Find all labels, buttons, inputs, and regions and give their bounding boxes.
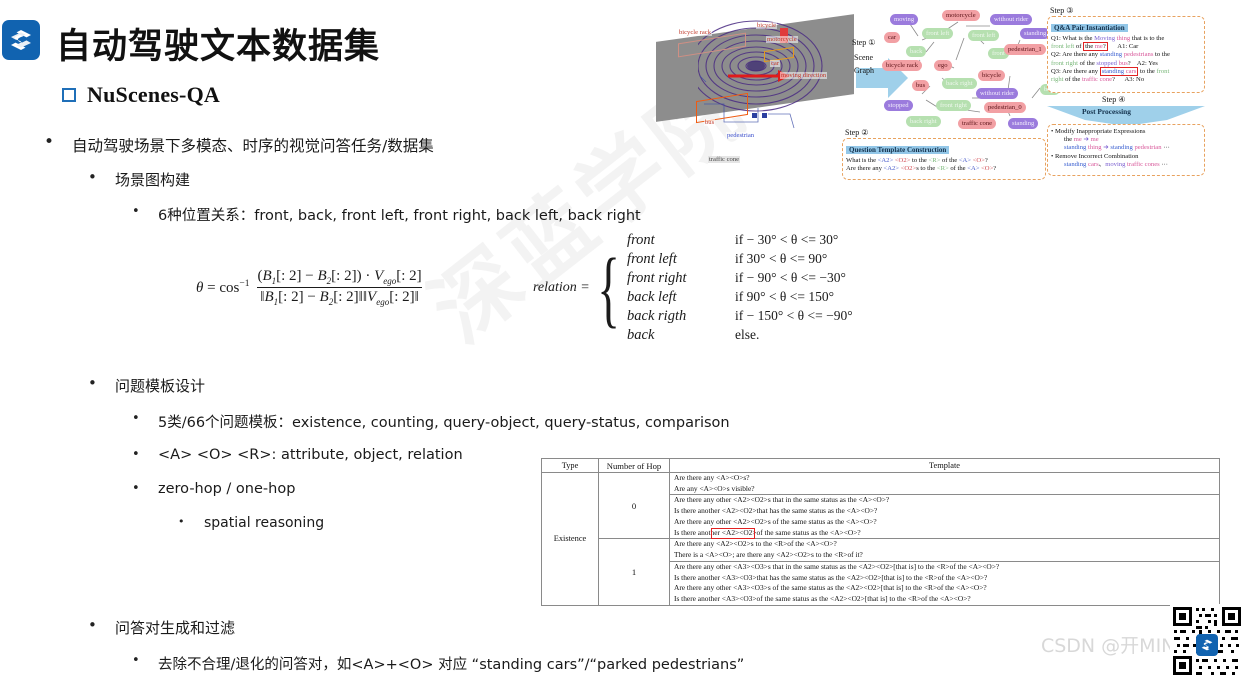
graph-node-ego: ego xyxy=(934,60,952,71)
bullet-text: zero-hop / one-hop xyxy=(158,481,295,497)
lidar-scene-panel: bicycle rack bicycle motorcycle car movi… xyxy=(652,4,862,182)
figure-label-car: car xyxy=(770,60,780,67)
bullet-dot-icon: • xyxy=(132,447,158,463)
template-group: Are there any <A><O>s?Are any <A><O>s vi… xyxy=(670,473,1219,495)
formula-theta-fraction: (B1[: 2] − B2[: 2]) · Vego[: 2] ‖B1[: 2]… xyxy=(254,268,424,308)
relation-case-value-4: back rigth xyxy=(627,308,735,325)
column-header-template: Template xyxy=(670,459,1220,473)
table-row: 1Are there any <A2><O2>s to the <R>of th… xyxy=(542,539,1220,605)
formula-relation-lhs: relation = xyxy=(533,280,594,296)
graph-node-without-rider: without rider xyxy=(990,14,1032,25)
relation-case-condition-5: else. xyxy=(735,327,853,344)
page-title: 自动驾驶文本数据集 xyxy=(56,18,380,69)
bullet-text: <A> <O> <R>: attribute, object, relation xyxy=(158,447,463,463)
bullet-text: spatial reasoning xyxy=(204,515,324,531)
template-group: Are there any other <A3><O3>s that in th… xyxy=(670,562,1219,605)
bullet-level2-scenegraph: • 场景图构建 xyxy=(88,169,190,190)
step3-qa-1b: front left of the me? A1: Car xyxy=(1048,43,1204,51)
pipeline-figure: bicycle rack bicycle motorcycle car movi… xyxy=(652,0,1246,186)
step1-label: Step ① xyxy=(852,38,875,47)
figure-label-pedestrian: pedestrian xyxy=(726,132,755,139)
step1-name-line1: Scene xyxy=(854,53,873,62)
formula-denominator: ‖B1[: 2] − B2[: 2]‖‖Vego[: 2]‖ xyxy=(257,287,422,307)
cell-hop: 0 xyxy=(599,473,670,539)
step4-item-1-detail-1: the me ➔ me xyxy=(1048,136,1204,144)
graph-node-bicycle: bicycle xyxy=(978,70,1005,81)
graph-node-bicycle-rack: bicycle rack xyxy=(882,60,922,71)
column-header-hop: Number of Hop xyxy=(599,459,670,473)
bullet-dot-icon: • xyxy=(88,375,115,392)
bullet-dot-icon: • xyxy=(178,515,204,530)
graph-node-traffic-cone: traffic cone xyxy=(958,118,996,129)
step3-panel: Q&A Pair Instantiation Q1: What is the M… xyxy=(1047,16,1205,93)
bullet-text: 6种位置关系：front, back, front left, front ri… xyxy=(158,204,641,225)
relation-case-value-0: front xyxy=(627,232,735,249)
relation-case-value-1: front left xyxy=(627,251,735,268)
step4-item-2-title: • Remove Incorrect Combination xyxy=(1048,153,1204,161)
step2-line-1: What is the <A2> <O2> to the <R> of the … xyxy=(843,157,1045,165)
figure-label-bicycle: bicycle xyxy=(756,22,777,29)
template-line: Is there another <A3><O3>that has the sa… xyxy=(670,573,1219,584)
graph-node-back-right: back right xyxy=(906,116,941,127)
bullet-level3-relations: • 6种位置关系：front, back, front left, front … xyxy=(132,204,641,225)
step4-item-1-title: • Modify Inappropriate Expressions xyxy=(1048,125,1204,136)
relation-case-condition-0: if − 30° < θ <= 30° xyxy=(735,232,853,249)
table-row: Existence0Are there any <A><O>s?Are any … xyxy=(542,473,1220,539)
step3-qa-1: Q1: What is the Moving thing that is to … xyxy=(1048,35,1204,43)
bullet-dot-icon: • xyxy=(44,134,72,151)
bullet-text: 自动驾驶场景下多模态、时序的视觉问答任务/数据集 xyxy=(72,134,434,156)
step4-item-2-detail-1: standing cars、moving traffic cones ··· xyxy=(1048,161,1204,169)
bullet-dot-icon: • xyxy=(132,204,158,220)
graph-node-motorcycle: motorcycle xyxy=(942,10,980,21)
slide-root: 深蓝学院 自动驾驶文本数据集 NuScenes-QA • 自动驾驶场景下多模态、… xyxy=(0,0,1246,680)
graph-node-bus: bus xyxy=(912,80,929,91)
table-header-row: Type Number of Hop Template xyxy=(542,459,1220,473)
template-line: Are there any other <A3><O3>s that in th… xyxy=(670,562,1219,573)
graph-node-back-right: back right xyxy=(942,78,977,89)
template-line: There is a <A><O>; are there any <A2><O2… xyxy=(670,550,1219,561)
graph-node-standing: standing xyxy=(1008,118,1038,129)
template-line: Are there any other <A2><O2>s that in th… xyxy=(670,495,1219,506)
graph-node-front-right: front right xyxy=(936,100,971,111)
figure-label-bicycle-rack: bicycle rack xyxy=(678,29,712,36)
figure-label-motorcycle: motorcycle xyxy=(766,36,798,43)
figure-label-traffic-cone: traffic cone xyxy=(708,156,740,163)
template-line: Are any <A><O>s visible? xyxy=(670,484,1219,495)
bullet-level2-template-design: • 问题模板设计 xyxy=(88,375,205,396)
step3-label: Step ③ xyxy=(1050,6,1073,15)
step4-heading: Post Processing xyxy=(1082,107,1131,116)
step3-heading: Q&A Pair Instantiation xyxy=(1051,24,1128,32)
relation-case-value-3: back left xyxy=(627,289,735,306)
graph-node-car: car xyxy=(884,32,900,43)
relation-case-value-2: front right xyxy=(627,270,735,287)
relation-case-condition-4: if − 150° < θ <= −90° xyxy=(735,308,853,325)
bullet-dot-icon: • xyxy=(132,653,158,669)
template-line: Is there another <A2><O2>that has the sa… xyxy=(670,506,1219,517)
bullet-text: 问答对生成和过滤 xyxy=(115,617,235,638)
square-bullet-icon xyxy=(62,88,76,102)
s-logo-icon xyxy=(2,20,40,60)
bullet-level3-66-templates: • 5类/66个问题模板：existence, counting, query-… xyxy=(132,411,730,432)
step2-line-2: Are there any <A2> <O2>s to the <R> of t… xyxy=(843,165,1045,173)
cell-type: Existence xyxy=(542,473,599,606)
template-line: Is there another <A3><O3>of the same sta… xyxy=(670,594,1219,605)
step2-panel: Question Template Construction What is t… xyxy=(842,138,1046,180)
step3-qa-2: Q2: Are there any standing pedestrians t… xyxy=(1048,51,1204,59)
template-line: Are there any <A2><O2>s to the <R>of the… xyxy=(670,539,1219,550)
bullet-level3-aor: • <A> <O> <R>: attribute, object, relati… xyxy=(132,447,463,463)
bullet-text: 问题模板设计 xyxy=(115,375,205,396)
cell-templates: Are there any <A2><O2>s to the <R>of the… xyxy=(670,539,1220,605)
relation-case-condition-2: if − 90° < θ <= −30° xyxy=(735,270,853,287)
template-line: Are there any other <A2><O2>s of the sam… xyxy=(670,517,1219,528)
graph-node-stopped: stopped xyxy=(884,100,913,111)
step1-name-line2: Graph xyxy=(854,66,874,75)
bullet-level4-spatial-reasoning: • spatial reasoning xyxy=(178,515,324,531)
question-template-table: Type Number of Hop Template Existence0Ar… xyxy=(541,458,1220,606)
formula-relation-cases: frontif − 30° < θ <= 30°front leftif 30°… xyxy=(627,232,853,344)
formula-theta-lhs: θ = cos−1 xyxy=(196,279,249,297)
graph-node-front-left: front left xyxy=(968,30,999,41)
graph-node-back: back xyxy=(906,46,926,57)
graph-node-moving: moving xyxy=(890,14,918,25)
graph-node-pedestrian-0: pedestrian_0 xyxy=(984,102,1026,113)
formula-relation: relation = { frontif − 30° < θ <= 30°fro… xyxy=(533,232,853,344)
bullet-level1-dataset: • 自动驾驶场景下多模态、时序的视觉问答任务/数据集 xyxy=(44,134,434,156)
step3-qa-3b: right of the traffic cone? A3: No xyxy=(1048,76,1204,84)
bullet-dot-icon: • xyxy=(88,169,115,186)
step4-panel: • Modify Inappropriate Expressions the m… xyxy=(1047,124,1205,176)
column-header-type: Type xyxy=(542,459,599,473)
red-highlight-box xyxy=(711,528,755,539)
graph-node-pedestrian-1: pedestrian_1 xyxy=(1004,44,1046,55)
bullet-level3-filter: • 去除不合理/退化的问答对，如<A>+<O> 对应 “standing car… xyxy=(132,653,744,674)
relation-case-value-5: back xyxy=(627,327,735,344)
graph-node-standing: standing xyxy=(1020,28,1050,39)
formula-theta: θ = cos−1 (B1[: 2] − B2[: 2]) · Vego[: 2… xyxy=(196,268,425,308)
template-group: Are there any <A2><O2>s to the <R>of the… xyxy=(670,539,1219,561)
qr-center-logo-icon xyxy=(1196,634,1218,656)
formula-numerator: (B1[: 2] − B2[: 2]) · Vego[: 2] xyxy=(254,268,424,287)
section-heading: NuScenes-QA xyxy=(62,82,220,108)
figure-label-moving-direction: moving direction xyxy=(780,72,827,79)
bullet-text: 5类/66个问题模板：existence, counting, query-ob… xyxy=(158,411,730,432)
template-line: Are there any other <A3><O3>s of the sam… xyxy=(670,583,1219,594)
bullet-level2-qa-generation: • 问答对生成和过滤 xyxy=(88,617,235,638)
graph-node-without-rider: without rider xyxy=(976,88,1018,99)
step3-qa-3: Q3: Are there any standing cars to the f… xyxy=(1048,68,1204,76)
bullet-dot-icon: • xyxy=(132,481,158,497)
template-line: Are there any <A><O>s? xyxy=(670,473,1219,484)
relation-case-condition-3: if 90° < θ <= 150° xyxy=(735,289,853,306)
step4-item-1-detail-2: standing thing ➔ standing pedestrian ··· xyxy=(1048,144,1204,152)
bullet-text: 去除不合理/退化的问答对，如<A>+<O> 对应 “standing cars”… xyxy=(158,653,744,674)
step2-label: Step ② xyxy=(845,128,868,137)
bullet-dot-icon: • xyxy=(88,617,115,634)
step2-heading: Question Template Construction xyxy=(846,146,949,154)
section-title: NuScenes-QA xyxy=(87,82,220,108)
bullet-dot-icon: • xyxy=(132,411,158,427)
bullet-level3-hops: • zero-hop / one-hop xyxy=(132,481,295,497)
graph-node-front-left: front left xyxy=(922,28,953,39)
relation-case-condition-1: if 30° < θ <= 90° xyxy=(735,251,853,268)
cell-hop: 1 xyxy=(599,539,670,605)
figure-label-bus: bus xyxy=(704,119,715,126)
step4-label: Step ④ xyxy=(1102,95,1125,104)
bullet-text: 场景图构建 xyxy=(115,169,190,190)
